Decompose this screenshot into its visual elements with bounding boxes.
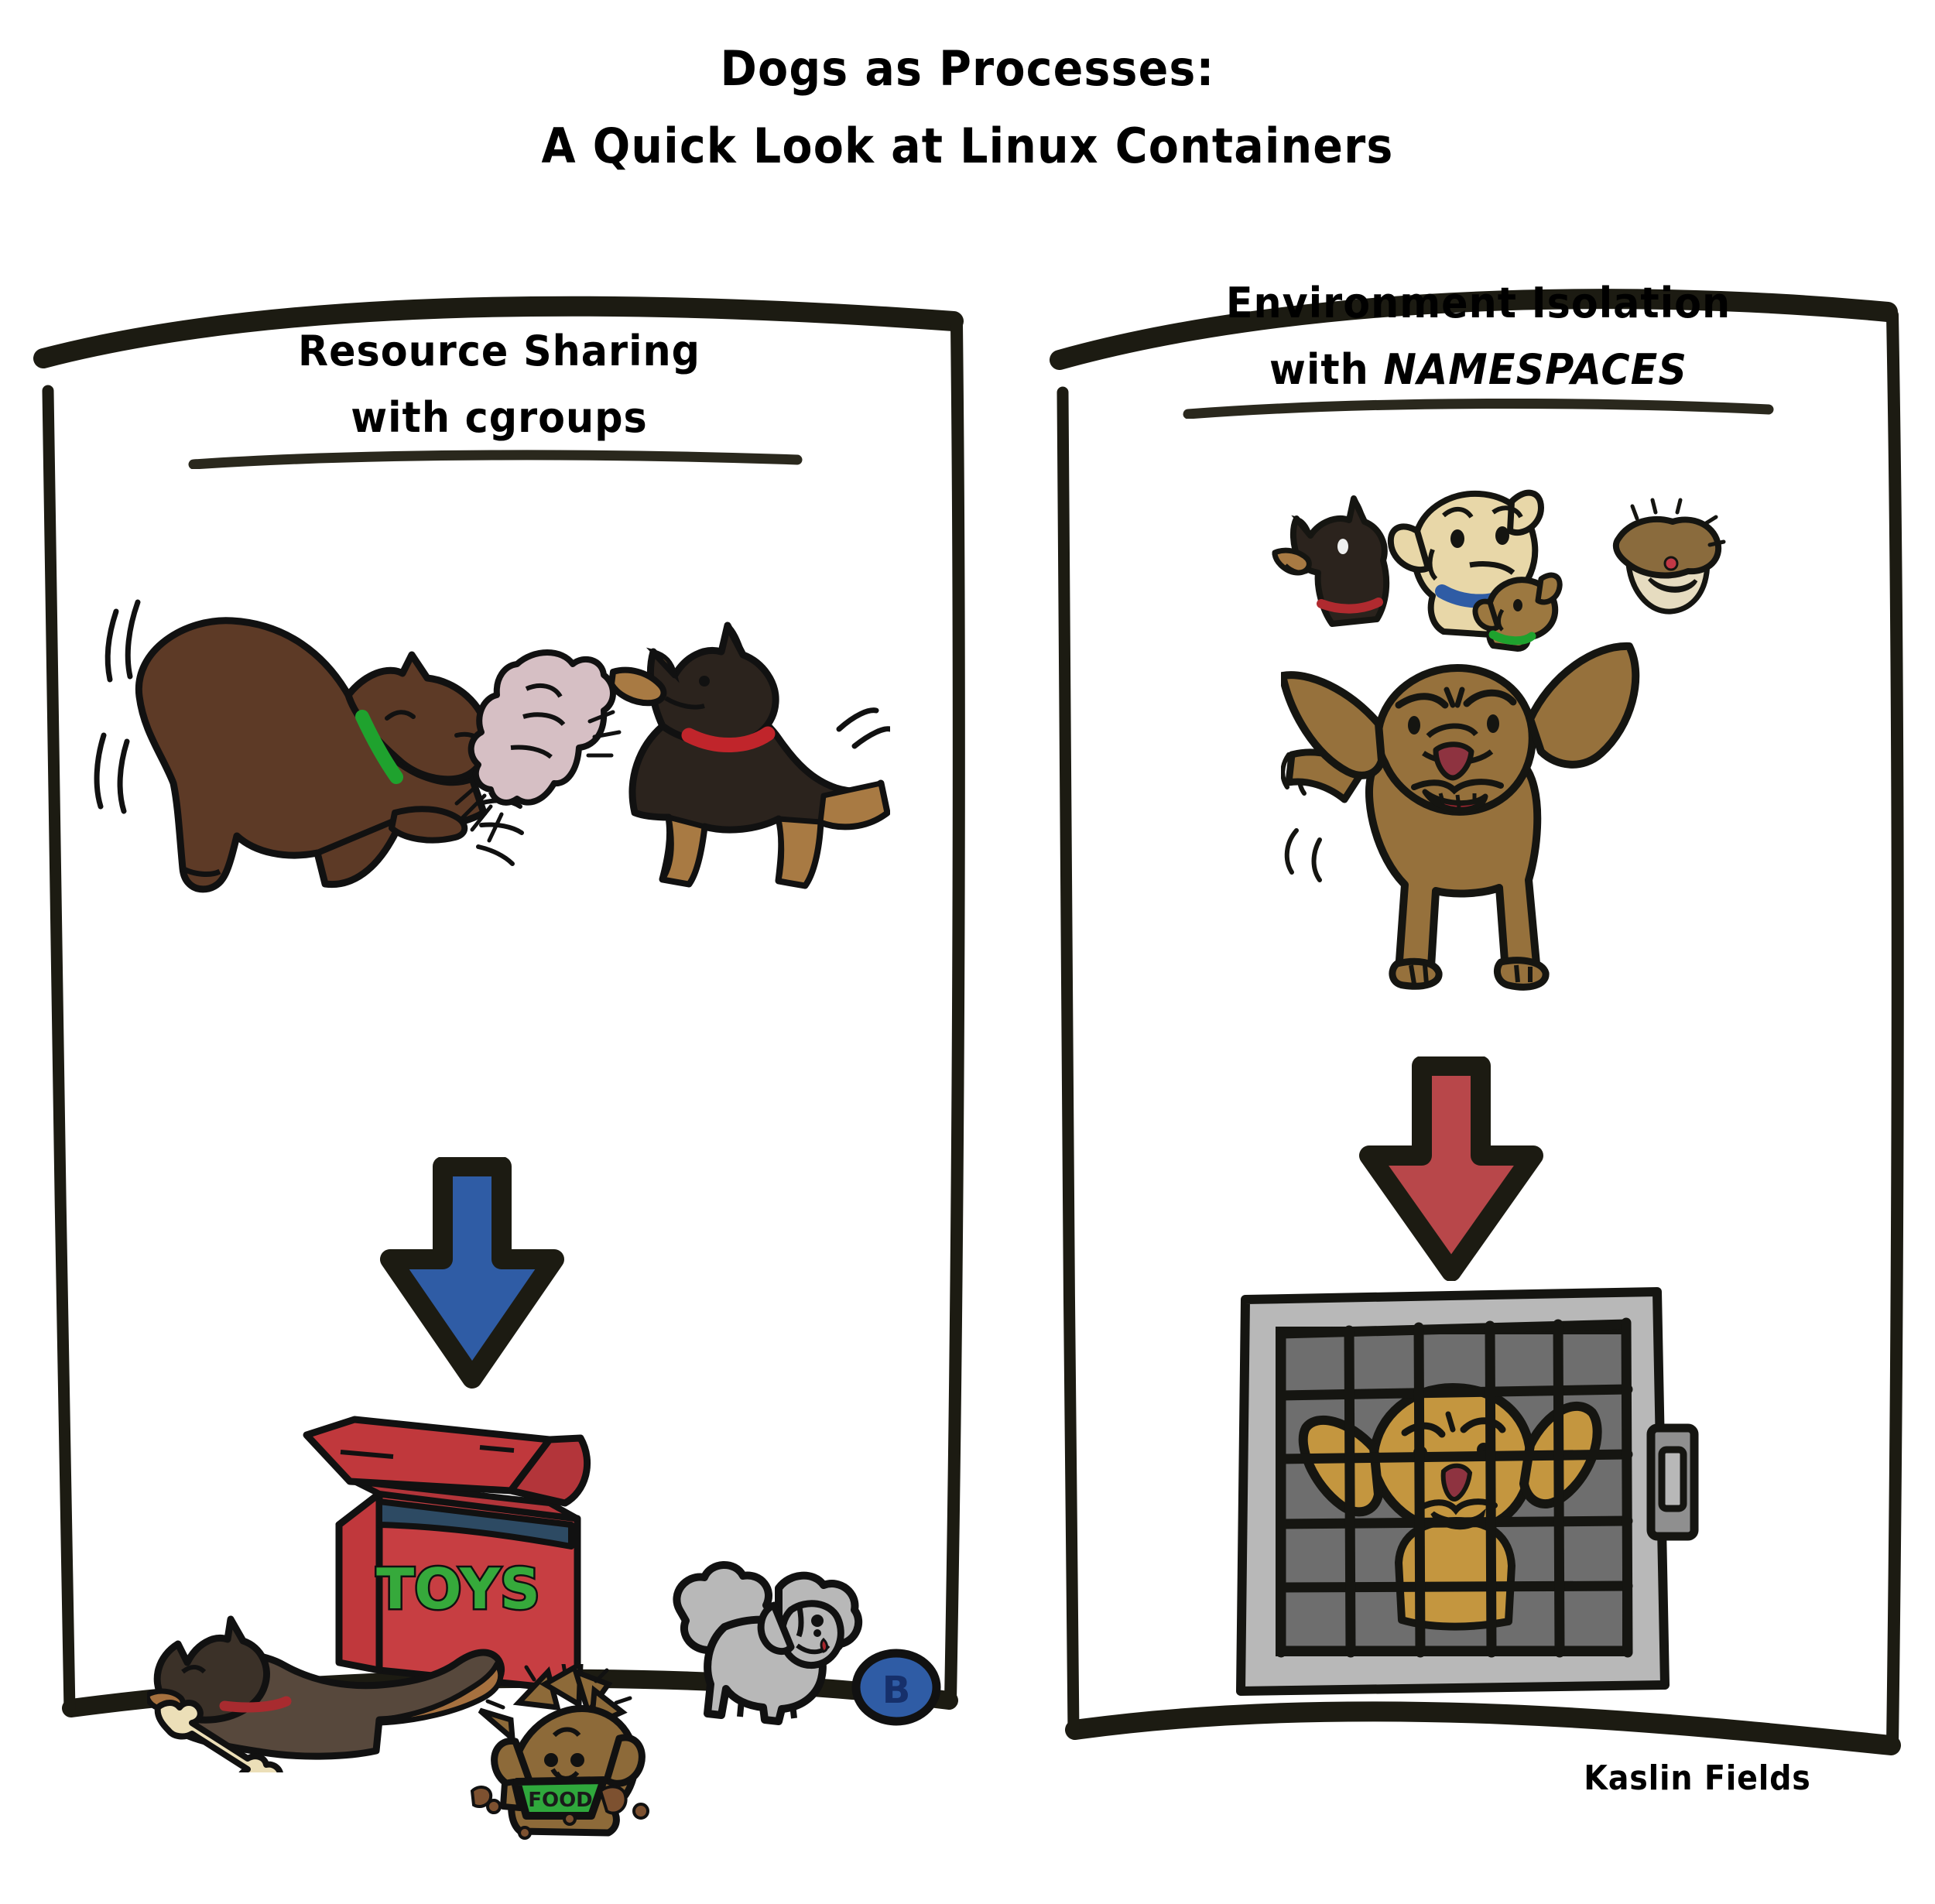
heading-right-emphasis: NAMESPACES bbox=[1384, 345, 1687, 394]
toy-box: TOYS bbox=[307, 1419, 587, 1690]
title-line-2: A Quick Look at Linux Containers bbox=[77, 122, 1858, 170]
scene-poodle-and-ball: B bbox=[666, 1556, 944, 1788]
title-line-1: Dogs as Processes: bbox=[77, 45, 1858, 93]
motion-lines-right bbox=[839, 711, 890, 746]
heading-underline-left bbox=[31, 449, 967, 469]
head-doberman bbox=[1275, 498, 1386, 624]
panel-heading-left: Resource Sharing with cgroups bbox=[31, 330, 967, 439]
down-arrow-red bbox=[1351, 1056, 1552, 1281]
eye-right bbox=[570, 1753, 584, 1767]
ball-label: B bbox=[882, 1669, 911, 1712]
ear-right bbox=[1530, 646, 1635, 765]
scene-big-angry-dog bbox=[1281, 639, 1699, 1026]
heading-left-line2: with cgroups bbox=[59, 397, 939, 439]
dog-chocolate-lab bbox=[139, 621, 488, 889]
poodle-eye bbox=[811, 1615, 824, 1627]
panel-resource-sharing: Resource Sharing with cgroups bbox=[31, 275, 967, 1753]
heading-left-line1: Resource Sharing bbox=[59, 330, 939, 372]
panel-environment-isolation: Environment Isolation with NAMESPACES bbox=[1049, 275, 1908, 1784]
scene-crate bbox=[1227, 1273, 1707, 1707]
panel-heading-right: Environment Isolation with NAMESPACES bbox=[1049, 283, 1908, 391]
crate-latch[interactable] bbox=[1651, 1428, 1694, 1536]
motion-lines-left bbox=[97, 602, 138, 811]
dog-doberman bbox=[611, 625, 887, 885]
eye-left bbox=[1408, 716, 1420, 735]
head-shaggy-dog bbox=[1616, 500, 1724, 611]
page-title: Dogs as Processes: A Quick Look at Linux… bbox=[0, 45, 1935, 170]
eye-right bbox=[1487, 714, 1499, 733]
heading-right-prefix: with bbox=[1269, 345, 1383, 394]
eye-left bbox=[544, 1753, 558, 1767]
heading-right-line2: with NAMESPACES bbox=[1074, 349, 1882, 391]
comic-canvas: Dogs as Processes: A Quick Look at Linux… bbox=[0, 0, 1935, 1819]
artist-signature: Kaslin Fields bbox=[1584, 1758, 1810, 1798]
toys-label: TOYS bbox=[376, 1556, 540, 1621]
poodle-nose bbox=[813, 1629, 821, 1637]
heading-right-line1: Environment Isolation bbox=[1074, 283, 1882, 324]
heading-underline-right bbox=[1049, 399, 1908, 419]
scene-tug-of-war bbox=[93, 580, 890, 906]
food-label: FOOD bbox=[528, 1789, 593, 1812]
down-arrow-blue bbox=[372, 1157, 573, 1389]
